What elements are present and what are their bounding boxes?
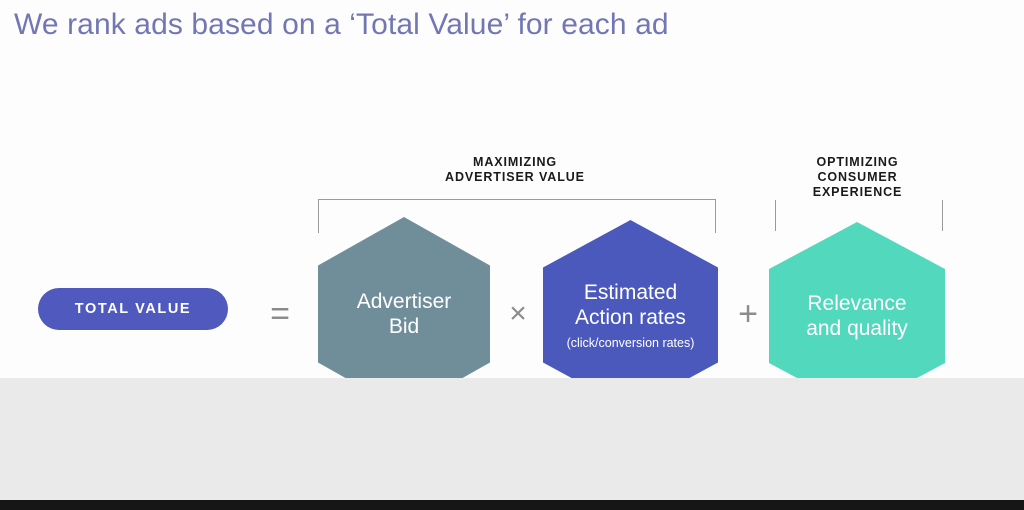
diagram-stage: MAXIMIZING ADVERTISER VALUE OPTIMIZING C… (0, 56, 1024, 378)
footer-panel: Click-optimized ad: Total Value = (bid f… (0, 378, 1024, 500)
bracket-label-advertiser-line2: ADVERTISER VALUE (395, 170, 635, 185)
hexagon-advertiser-bid-line1: Advertiser (357, 289, 452, 314)
hexagon-estimated-action-rates-line2: Action rates (575, 305, 686, 330)
plus-operator: + (726, 292, 770, 336)
slide: We rank ads based on a ‘Total Value’ for… (0, 0, 1024, 510)
multiply-operator: × (496, 292, 540, 336)
total-value-badge: TOTAL VALUE (38, 288, 228, 330)
bracket-advertiser (318, 199, 716, 233)
bracket-label-advertiser: MAXIMIZING ADVERTISER VALUE (395, 155, 635, 185)
bracket-label-consumer-line2: CONSUMER (765, 170, 950, 185)
hexagon-relevance-and-quality-line1: Relevance (807, 291, 906, 316)
bracket-label-consumer: OPTIMIZING CONSUMER EXPERIENCE (765, 155, 950, 200)
hexagon-relevance-and-quality-line2: and quality (806, 316, 908, 341)
equals-operator: = (258, 292, 302, 336)
hexagon-estimated-action-rates-subtitle: (click/conversion rates) (567, 335, 695, 351)
bracket-label-advertiser-line1: MAXIMIZING (395, 155, 635, 170)
bracket-label-consumer-line1: OPTIMIZING (765, 155, 950, 170)
hexagon-estimated-action-rates-line1: Estimated (584, 280, 677, 305)
page-title: We rank ads based on a ‘Total Value’ for… (14, 8, 669, 42)
footer-bar (0, 500, 1024, 510)
bracket-label-consumer-line3: EXPERIENCE (765, 185, 950, 200)
hexagon-advertiser-bid-line2: Bid (389, 314, 419, 339)
